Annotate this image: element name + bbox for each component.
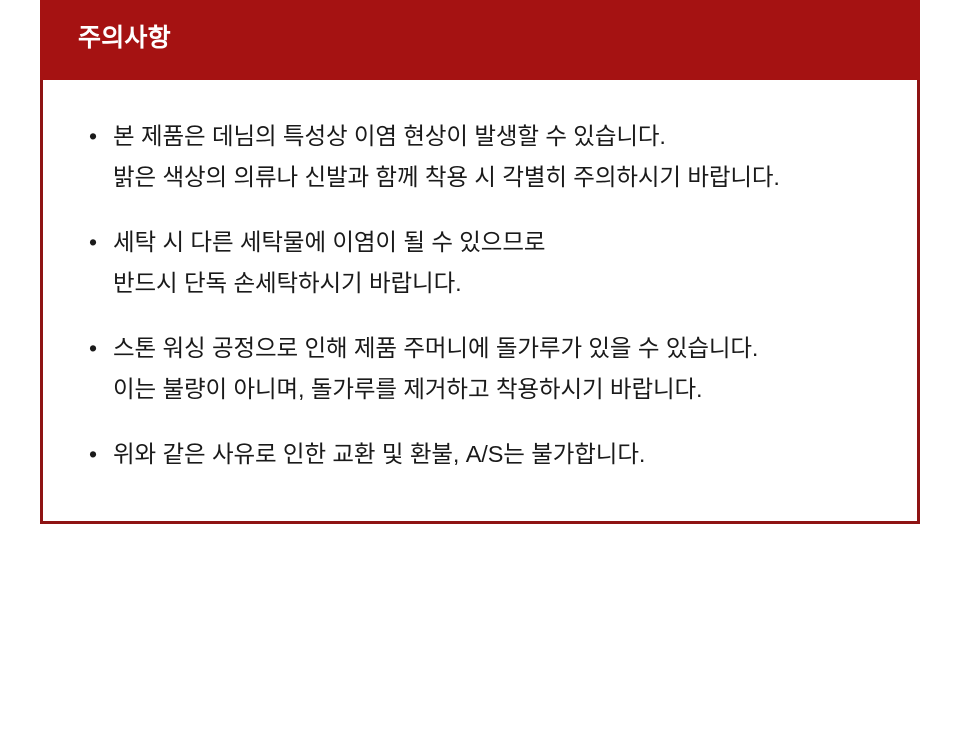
notice-line: 반드시 단독 손세탁하시기 바랍니다.	[113, 263, 897, 304]
list-item: • 위와 같은 사유로 인한 교환 및 환불, A/S는 불가합니다.	[87, 434, 897, 475]
list-item: • 스톤 워싱 공정으로 인해 제품 주머니에 돌가루가 있을 수 있습니다. …	[87, 328, 897, 410]
notice-line: 밝은 색상의 의류나 신발과 함께 착용 시 각별히 주의하시기 바랍니다.	[113, 157, 897, 198]
notice-line: 이는 불량이 아니며, 돌가루를 제거하고 착용하시기 바랍니다.	[113, 369, 897, 410]
notice-list: • 본 제품은 데님의 특성상 이염 현상이 발생할 수 있습니다. 밝은 색상…	[87, 116, 897, 475]
page-title: 주의사항	[78, 21, 171, 55]
notice-line: 세탁 시 다른 세탁물에 이염이 될 수 있으므로	[113, 222, 897, 263]
bullet-icon: •	[89, 434, 105, 475]
list-item-text: 스톤 워싱 공정으로 인해 제품 주머니에 돌가루가 있을 수 있습니다. 이는…	[113, 328, 897, 410]
bullet-icon: •	[89, 116, 105, 157]
bullet-icon: •	[89, 328, 105, 369]
list-item: • 본 제품은 데님의 특성상 이염 현상이 발생할 수 있습니다. 밝은 색상…	[87, 116, 897, 198]
list-item-text: 본 제품은 데님의 특성상 이염 현상이 발생할 수 있습니다. 밝은 색상의 …	[113, 116, 897, 198]
notice-body-box: • 본 제품은 데님의 특성상 이염 현상이 발생할 수 있습니다. 밝은 색상…	[40, 80, 920, 524]
notice-line: 본 제품은 데님의 특성상 이염 현상이 발생할 수 있습니다.	[113, 116, 897, 157]
notice-line: 위와 같은 사유로 인한 교환 및 환불, A/S는 불가합니다.	[113, 434, 897, 475]
list-item: • 세탁 시 다른 세탁물에 이염이 될 수 있으므로 반드시 단독 손세탁하시…	[87, 222, 897, 304]
list-item-text: 위와 같은 사유로 인한 교환 및 환불, A/S는 불가합니다.	[113, 434, 897, 475]
list-item-text: 세탁 시 다른 세탁물에 이염이 될 수 있으므로 반드시 단독 손세탁하시기 …	[113, 222, 897, 304]
notice-line: 스톤 워싱 공정으로 인해 제품 주머니에 돌가루가 있을 수 있습니다.	[113, 328, 897, 369]
notice-header-banner: 주의사항	[40, 0, 920, 80]
bullet-icon: •	[89, 222, 105, 263]
